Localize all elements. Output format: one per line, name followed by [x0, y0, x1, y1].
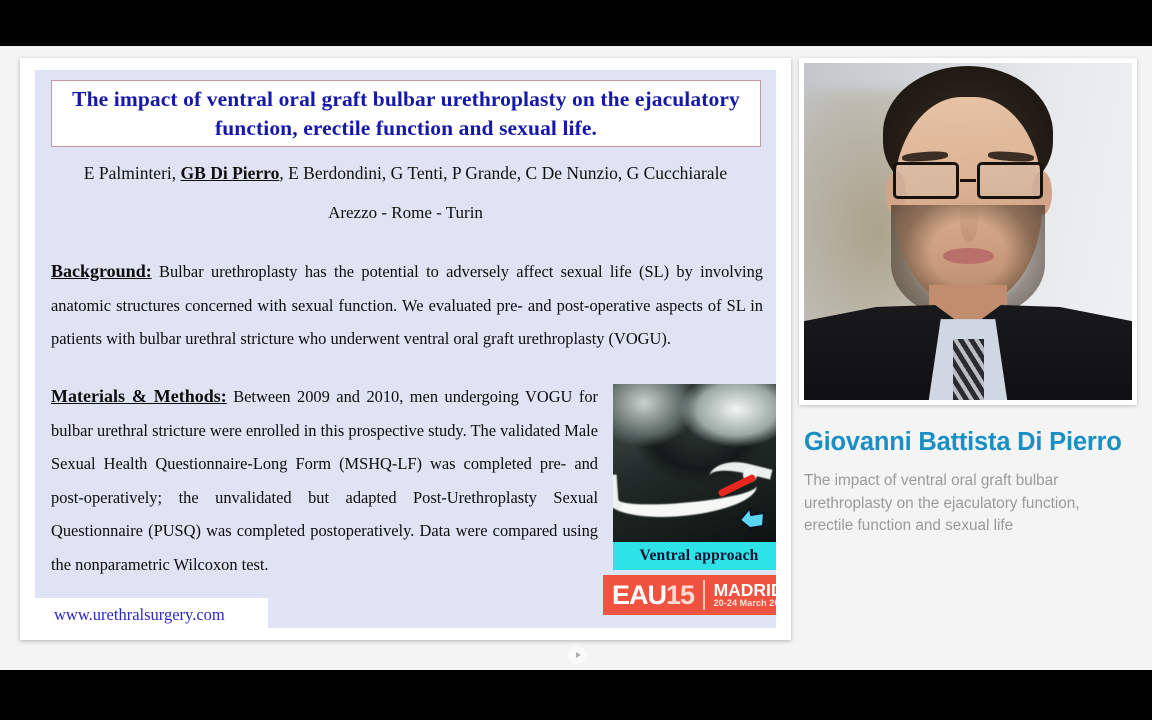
eau-logo-dates: 20-24 March 2015 [714, 599, 776, 608]
slide-content-panel: The impact of ventral oral graft bulbar … [35, 70, 776, 628]
eau-logo-divider [703, 580, 705, 610]
letterbox-bar-top [0, 0, 1152, 46]
website-url: www.urethralsurgery.com [54, 605, 225, 625]
play-watermark-icon [568, 646, 586, 664]
affiliation-cities: Arezzo - Rome - Turin [35, 203, 776, 223]
portrait-eyeglasses [893, 162, 1044, 199]
methods-paragraph: Materials & Methods: Between 2009 and 20… [51, 380, 598, 581]
eau-logo-letters: EAU [612, 580, 666, 610]
speaker-name: Giovanni Battista Di Pierro [799, 427, 1137, 457]
portrait-glasses-bridge [960, 179, 975, 182]
background-heading: Background: [51, 261, 152, 281]
urethrogram-xray-image [613, 384, 776, 542]
speaker-talk-description: The impact of ventral oral graft bulbar … [799, 470, 1129, 538]
authors-prefix: E Palminteri, [84, 163, 181, 183]
speaker-portrait-photo [804, 63, 1132, 400]
eau-logo-wordmark: EAU15 [603, 582, 694, 609]
author-list: E Palminteri, GB Di Pierro, E Berdondini… [35, 163, 776, 184]
letterbox-bar-bottom [0, 670, 1152, 720]
portrait-striped-tie [953, 339, 984, 400]
background-body: Bulbar urethroplasty has the potential t… [51, 262, 763, 348]
portrait-lens-left [893, 162, 959, 199]
figure-caption: Ventral approach [613, 542, 776, 570]
figure-block: Ventral approach EAU15 MADRID 20-24 Marc… [613, 384, 776, 615]
slide-card[interactable]: The impact of ventral oral graft bulbar … [20, 58, 791, 640]
eau15-congress-logo: EAU15 MADRID 20-24 March 2015 [603, 575, 776, 615]
slide-title-box: The impact of ventral oral graft bulbar … [51, 80, 761, 147]
eau-logo-year: 15 [666, 580, 694, 610]
video-player-stage: The impact of ventral oral graft bulbar … [0, 0, 1152, 720]
methods-heading: Materials & Methods: [51, 386, 227, 406]
eau-logo-city: MADRID [714, 581, 776, 599]
speaker-panel: Giovanni Battista Di Pierro The impact o… [799, 58, 1137, 618]
background-paragraph: Background: Bulbar urethroplasty has the… [51, 255, 763, 356]
speaker-portrait-frame [799, 58, 1137, 405]
website-url-strip[interactable]: www.urethralsurgery.com [35, 598, 268, 628]
author-highlighted: GB Di Pierro [181, 163, 280, 183]
presentation-page: The impact of ventral oral graft bulbar … [0, 46, 1152, 670]
cyan-pointer-arrow-icon [737, 504, 767, 530]
methods-body: Between 2009 and 2010, men undergoing VO… [51, 387, 598, 574]
slide-title: The impact of ventral oral graft bulbar … [52, 85, 760, 143]
eau-logo-venue-block: MADRID 20-24 March 2015 [714, 581, 776, 609]
authors-suffix: , E Berdondini, G Tenti, P Grande, C De … [279, 163, 727, 183]
portrait-lens-right [977, 162, 1043, 199]
